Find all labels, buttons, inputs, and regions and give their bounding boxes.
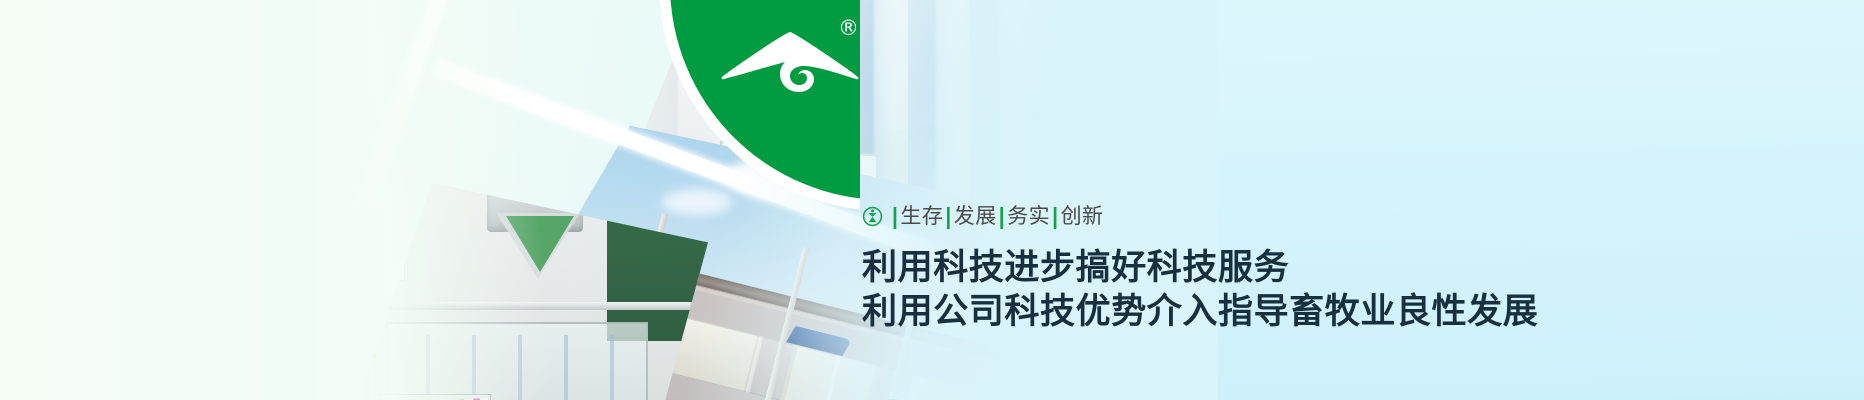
- hero-banner: ® | 生存 | 发展 | 务实 | 创新: [0, 0, 1864, 400]
- tagline-word-3: 务实: [1007, 206, 1050, 227]
- banner-copy: | 生存 | 发展 | 务实 | 创新 利用科技进步搞好科技服务 利用公司科技优…: [862, 206, 1642, 334]
- tagline: | 生存 | 发展 | 务实 | 创新: [862, 206, 1642, 227]
- tagline-separator: |: [997, 205, 1007, 229]
- tagline-separator: |: [890, 205, 900, 229]
- headline-line-2: 利用公司科技优势介入指导畜牧业良性发展: [862, 290, 1642, 334]
- headline-line-1: 利用科技进步搞好科技服务: [862, 246, 1642, 290]
- tagline-separator: |: [1050, 205, 1060, 229]
- tagline-words: | 生存 | 发展 | 务实 | 创新: [890, 206, 1104, 227]
- tagline-separator: |: [943, 205, 953, 229]
- tagline-word-2: 发展: [954, 206, 997, 227]
- logo-disc-container: ®: [300, 0, 860, 400]
- person-in-circle-icon: [862, 206, 883, 227]
- headline: 利用科技进步搞好科技服务 利用公司科技优势介入指导畜牧业良性发展: [862, 246, 1642, 334]
- registered-trademark-icon: ®: [838, 18, 859, 39]
- tagline-word-4: 创新: [1061, 206, 1104, 227]
- tagline-word-1: 生存: [900, 206, 943, 227]
- logo-green-disc: ®: [670, 0, 860, 200]
